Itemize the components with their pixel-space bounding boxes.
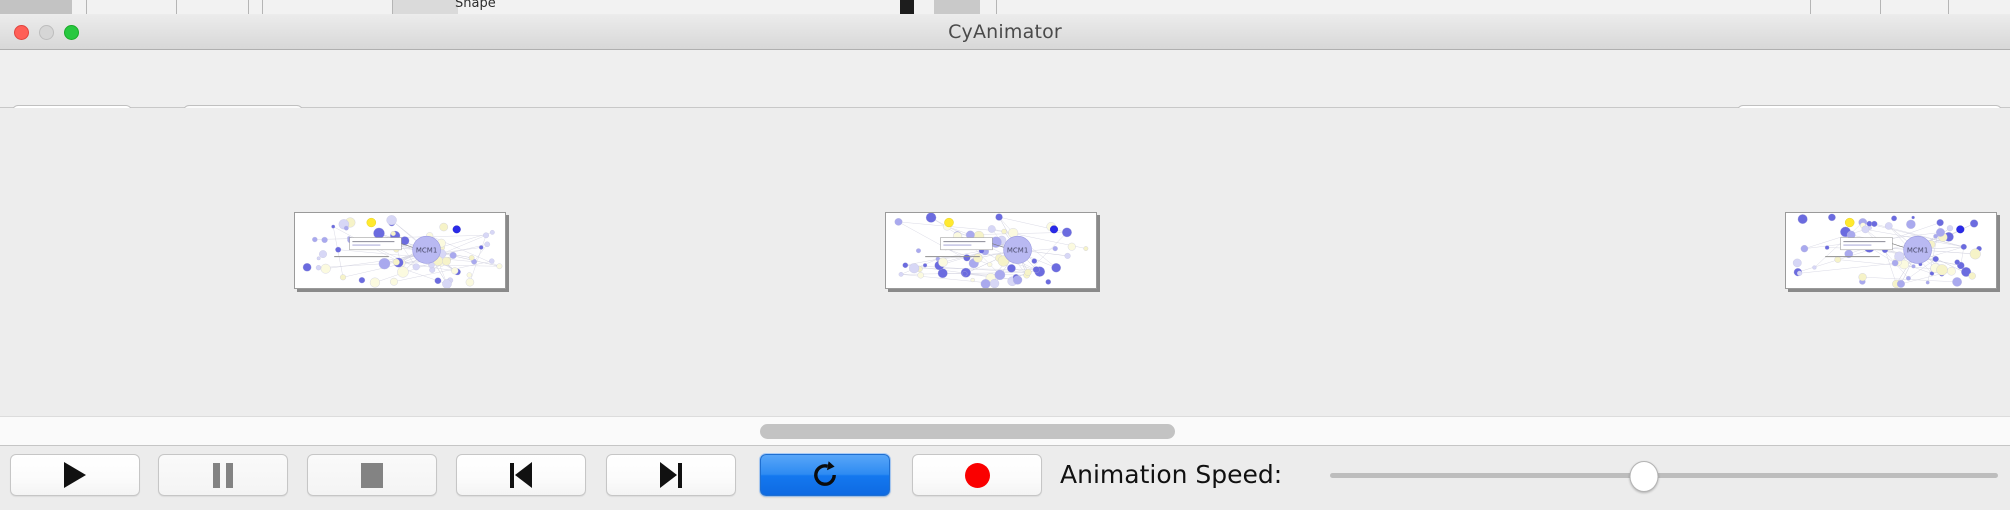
title-bar: CyAnimator xyxy=(0,14,2010,50)
slider-thumb[interactable] xyxy=(1629,461,1658,492)
timeline-panel[interactable]: MCM1MCM1MCM1 2131415161718 Seconds xyxy=(0,108,2010,416)
cyanimator-window: Shape CyAnimator Clear All Frames xyxy=(0,0,2010,510)
skip-back-icon xyxy=(510,462,532,488)
skip-forward-icon xyxy=(660,462,682,488)
pause-button[interactable] xyxy=(158,454,288,496)
slider-track[interactable] xyxy=(1330,473,1998,478)
playback-toolbar: Animation Speed: xyxy=(0,446,2010,510)
horizontal-scrollbar-track[interactable] xyxy=(0,416,2010,446)
frame-thumbnail-3[interactable]: MCM1 xyxy=(1785,212,1997,289)
stop-button[interactable] xyxy=(307,454,437,496)
skip-to-start-button[interactable] xyxy=(456,454,586,496)
play-icon xyxy=(64,462,86,488)
record-button[interactable] xyxy=(912,454,1042,496)
play-button[interactable] xyxy=(10,454,140,496)
pause-icon xyxy=(213,463,233,488)
svg-text:MCM1: MCM1 xyxy=(1907,247,1928,255)
horizontal-scrollbar-thumb[interactable] xyxy=(760,424,1175,439)
frame-thumbnail-2[interactable]: MCM1 xyxy=(885,212,1097,289)
loop-icon xyxy=(810,460,840,490)
skip-to-end-button[interactable] xyxy=(606,454,736,496)
background-ghost-label: Shape xyxy=(455,0,496,11)
frame-toolbar: Clear All Frames xyxy=(0,50,2010,108)
record-icon xyxy=(965,463,990,488)
animation-speed-slider[interactable] xyxy=(1330,454,1998,496)
frame-thumbnail-1[interactable]: MCM1 xyxy=(294,212,506,289)
loop-button[interactable] xyxy=(760,454,890,496)
stop-icon xyxy=(361,463,383,488)
window-title: CyAnimator xyxy=(0,14,2010,50)
svg-text:MCM1: MCM1 xyxy=(416,247,437,255)
svg-text:MCM1: MCM1 xyxy=(1007,247,1028,255)
background-window-strip: Shape xyxy=(0,0,2010,14)
animation-speed-label: Animation Speed: xyxy=(1060,454,1282,496)
